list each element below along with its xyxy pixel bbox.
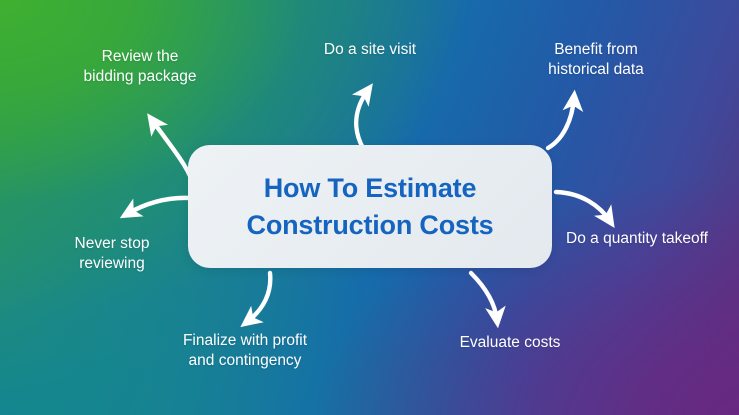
node-label-finalize-profit-contingency: Finalize with profit and contingency <box>152 331 338 371</box>
node-label-quantity-takeoff: Do a quantity takeoff <box>547 229 727 249</box>
center-card: How To Estimate Construction Costs <box>188 145 552 268</box>
arrow-site-visit <box>356 90 368 148</box>
node-label-never-stop-reviewing: Never stop reviewing <box>38 234 186 274</box>
arrow-never-stop-reviewing <box>127 198 190 214</box>
node-label-historical-data: Benefit from historical data <box>508 40 684 80</box>
node-label-site-visit: Do a site visit <box>288 40 452 60</box>
arrow-quantity-takeoff <box>556 192 610 221</box>
node-label-evaluate-costs: Evaluate costs <box>432 333 588 353</box>
node-label-review-bidding-package: Review the bidding package <box>60 47 220 87</box>
arrow-finalize-profit-contingency <box>247 273 270 322</box>
infographic-canvas: How To Estimate Construction Costs Revie… <box>0 0 739 415</box>
page-title: How To Estimate Construction Costs <box>247 170 494 242</box>
arrow-evaluate-costs <box>471 273 497 320</box>
arrow-historical-data <box>548 98 574 148</box>
